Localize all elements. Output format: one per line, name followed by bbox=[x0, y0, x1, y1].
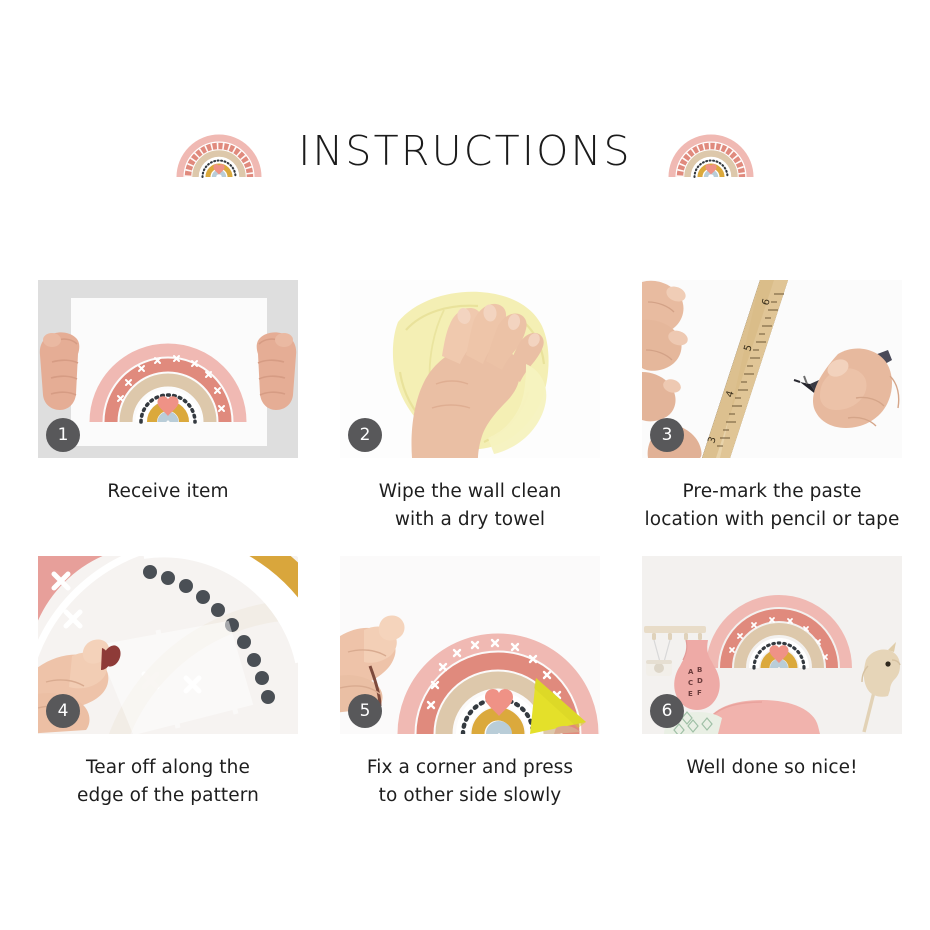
page-title: INSTRUCTIONS bbox=[298, 131, 631, 172]
step-card-4: 4 Tear off along the edge of the pattern bbox=[38, 556, 298, 810]
step-photo-2: 2 bbox=[340, 280, 600, 458]
svg-text:A: A bbox=[688, 668, 694, 676]
svg-text:E: E bbox=[688, 690, 693, 698]
caption-line: edge of the pattern bbox=[38, 782, 298, 810]
step-caption-6: Well done so nice! bbox=[642, 754, 902, 782]
caption-line: with a dry towel bbox=[340, 506, 600, 534]
caption-line: Fix a corner and press bbox=[340, 754, 600, 782]
rainbow-icon bbox=[666, 122, 756, 180]
rainbow-icon bbox=[174, 122, 264, 180]
step-card-1: 1 Receive item bbox=[38, 280, 298, 534]
right-hand bbox=[257, 332, 297, 410]
step-badge: 1 bbox=[46, 418, 80, 452]
caption-line: Receive item bbox=[38, 478, 298, 506]
svg-text:C: C bbox=[688, 679, 693, 687]
caption-line: Tear off along the bbox=[38, 754, 298, 782]
step-photo-5: 5 bbox=[340, 556, 600, 734]
step-caption-5: Fix a corner and press to other side slo… bbox=[340, 754, 600, 810]
step-photo-1: 1 bbox=[38, 280, 298, 458]
step-caption-4: Tear off along the edge of the pattern bbox=[38, 754, 298, 810]
step-photo-3: 6 5 4 3 bbox=[642, 280, 902, 458]
step-card-5: 5 Fix a corner and press to other side s… bbox=[340, 556, 600, 810]
step-card-3: 6 5 4 3 bbox=[642, 280, 902, 534]
svg-text:B: B bbox=[697, 666, 702, 674]
caption-line: location with pencil or tape bbox=[642, 506, 902, 534]
caption-line: to other side slowly bbox=[340, 782, 600, 810]
step-caption-2: Wipe the wall clean with a dry towel bbox=[340, 478, 600, 534]
step-caption-3: Pre-mark the paste location with pencil … bbox=[642, 478, 902, 534]
caption-line: Well done so nice! bbox=[642, 754, 902, 782]
step-card-2: 2 Wipe the wall clean with a dry towel bbox=[340, 280, 600, 534]
page-header: INSTRUCTIONS bbox=[0, 112, 930, 190]
step-photo-4: 4 bbox=[38, 556, 298, 734]
svg-text:D: D bbox=[697, 677, 703, 685]
step-badge: 5 bbox=[348, 694, 382, 728]
steps-grid: 1 Receive item bbox=[38, 280, 902, 810]
left-hand bbox=[40, 332, 80, 410]
step-caption-1: Receive item bbox=[38, 478, 298, 506]
svg-text:F: F bbox=[697, 689, 702, 697]
step-card-6: AB CD EF bbox=[642, 556, 902, 810]
caption-line: Wipe the wall clean bbox=[340, 478, 600, 506]
step-badge: 3 bbox=[650, 418, 684, 452]
step-badge: 6 bbox=[650, 694, 684, 728]
step-badge: 4 bbox=[46, 694, 80, 728]
step-photo-6: AB CD EF bbox=[642, 556, 902, 734]
caption-line: Pre-mark the paste bbox=[642, 478, 902, 506]
step-badge: 2 bbox=[348, 418, 382, 452]
instructions-infographic: INSTRUCTIONS bbox=[0, 0, 930, 930]
